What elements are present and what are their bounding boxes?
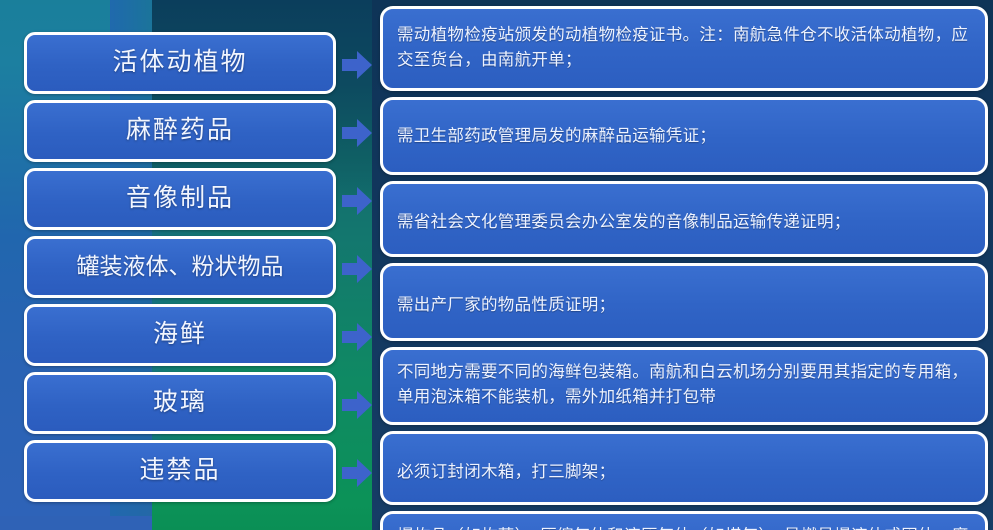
category-label: 活体动植物 xyxy=(112,49,247,77)
category-label: 玻璃 xyxy=(153,389,207,417)
category-box-live-animals-plants[interactable]: 活体动植物 xyxy=(24,32,336,94)
requirement-box-prohibited-items[interactable]: 爆炸品（如炸药）、压缩气体和液压气体（如煤气）、易燃易爆液体或固体、腐蚀品（如硫… xyxy=(380,511,988,530)
arrow-right-icon xyxy=(340,388,374,422)
category-box-narcotic-drugs[interactable]: 麻醉药品 xyxy=(24,100,336,162)
category-box-seafood[interactable]: 海鲜 xyxy=(24,304,336,366)
requirement-box-live-animals-plants[interactable]: 需动植物检疫站颁发的动植物检疫证书。注：南航急件仓不收活体动植物，应交至货台，由… xyxy=(380,6,988,91)
category-label: 违禁品 xyxy=(139,457,220,485)
category-box-glass[interactable]: 玻璃 xyxy=(24,372,336,434)
arrow-right-icon xyxy=(340,48,374,82)
slide-canvas: 活体动植物 麻醉药品 音像制品 罐装液体、粉状物品 海鲜 玻璃 违禁品 xyxy=(0,0,993,530)
requirement-text: 需动植物检疫站颁发的动植物检疫证书。注：南航急件仓不收活体动植物，应交至货台，由… xyxy=(397,18,973,72)
requirement-text: 需出产厂家的物品性质证明； xyxy=(397,275,973,317)
requirement-box-seafood[interactable]: 不同地方需要不同的海鲜包装箱。南航和白云机场分别要用其指定的专用箱，单用泡沫箱不… xyxy=(380,347,988,425)
requirement-box-glass[interactable]: 必须订封闭木箱，打三脚架； xyxy=(380,431,988,505)
category-box-audio-video-products[interactable]: 音像制品 xyxy=(24,168,336,230)
arrow-right-icon xyxy=(340,184,374,218)
requirement-text: 需省社会文化管理委员会办公室发的音像制品运输传递证明； xyxy=(397,193,973,234)
category-label: 麻醉药品 xyxy=(126,117,234,145)
arrow-right-icon xyxy=(340,320,374,354)
requirement-text: 必须订封闭木箱，打三脚架； xyxy=(397,443,973,484)
requirement-text: 需卫生部药政管理局发的麻醉品运输凭证； xyxy=(397,109,973,148)
arrow-right-icon xyxy=(340,116,374,150)
background-bottom-strip xyxy=(0,516,152,530)
category-box-canned-liquids-powders[interactable]: 罐装液体、粉状物品 xyxy=(24,236,336,298)
category-column: 活体动植物 麻醉药品 音像制品 罐装液体、粉状物品 海鲜 玻璃 违禁品 xyxy=(24,32,336,508)
requirement-box-canned-liquids-powders[interactable]: 需出产厂家的物品性质证明； xyxy=(380,263,988,341)
category-box-prohibited-items[interactable]: 违禁品 xyxy=(24,440,336,502)
requirement-box-narcotic-drugs[interactable]: 需卫生部药政管理局发的麻醉品运输凭证； xyxy=(380,97,988,175)
arrow-right-icon xyxy=(340,456,374,490)
category-label: 音像制品 xyxy=(126,185,234,213)
arrow-right-icon xyxy=(340,252,374,286)
requirement-text: 爆炸品（如炸药）、压缩气体和液压气体（如煤气）、易燃易爆液体或固体、腐蚀品（如硫… xyxy=(397,523,973,530)
requirement-box-audio-video-products[interactable]: 需省社会文化管理委员会办公室发的音像制品运输传递证明； xyxy=(380,181,988,257)
requirement-text: 不同地方需要不同的海鲜包装箱。南航和白云机场分别要用其指定的专用箱，单用泡沫箱不… xyxy=(397,359,973,409)
category-label: 海鲜 xyxy=(153,321,207,349)
requirement-column: 需动植物检疫站颁发的动植物检疫证书。注：南航急件仓不收活体动植物，应交至货台，由… xyxy=(380,6,988,530)
category-label: 罐装液体、粉状物品 xyxy=(77,254,284,279)
